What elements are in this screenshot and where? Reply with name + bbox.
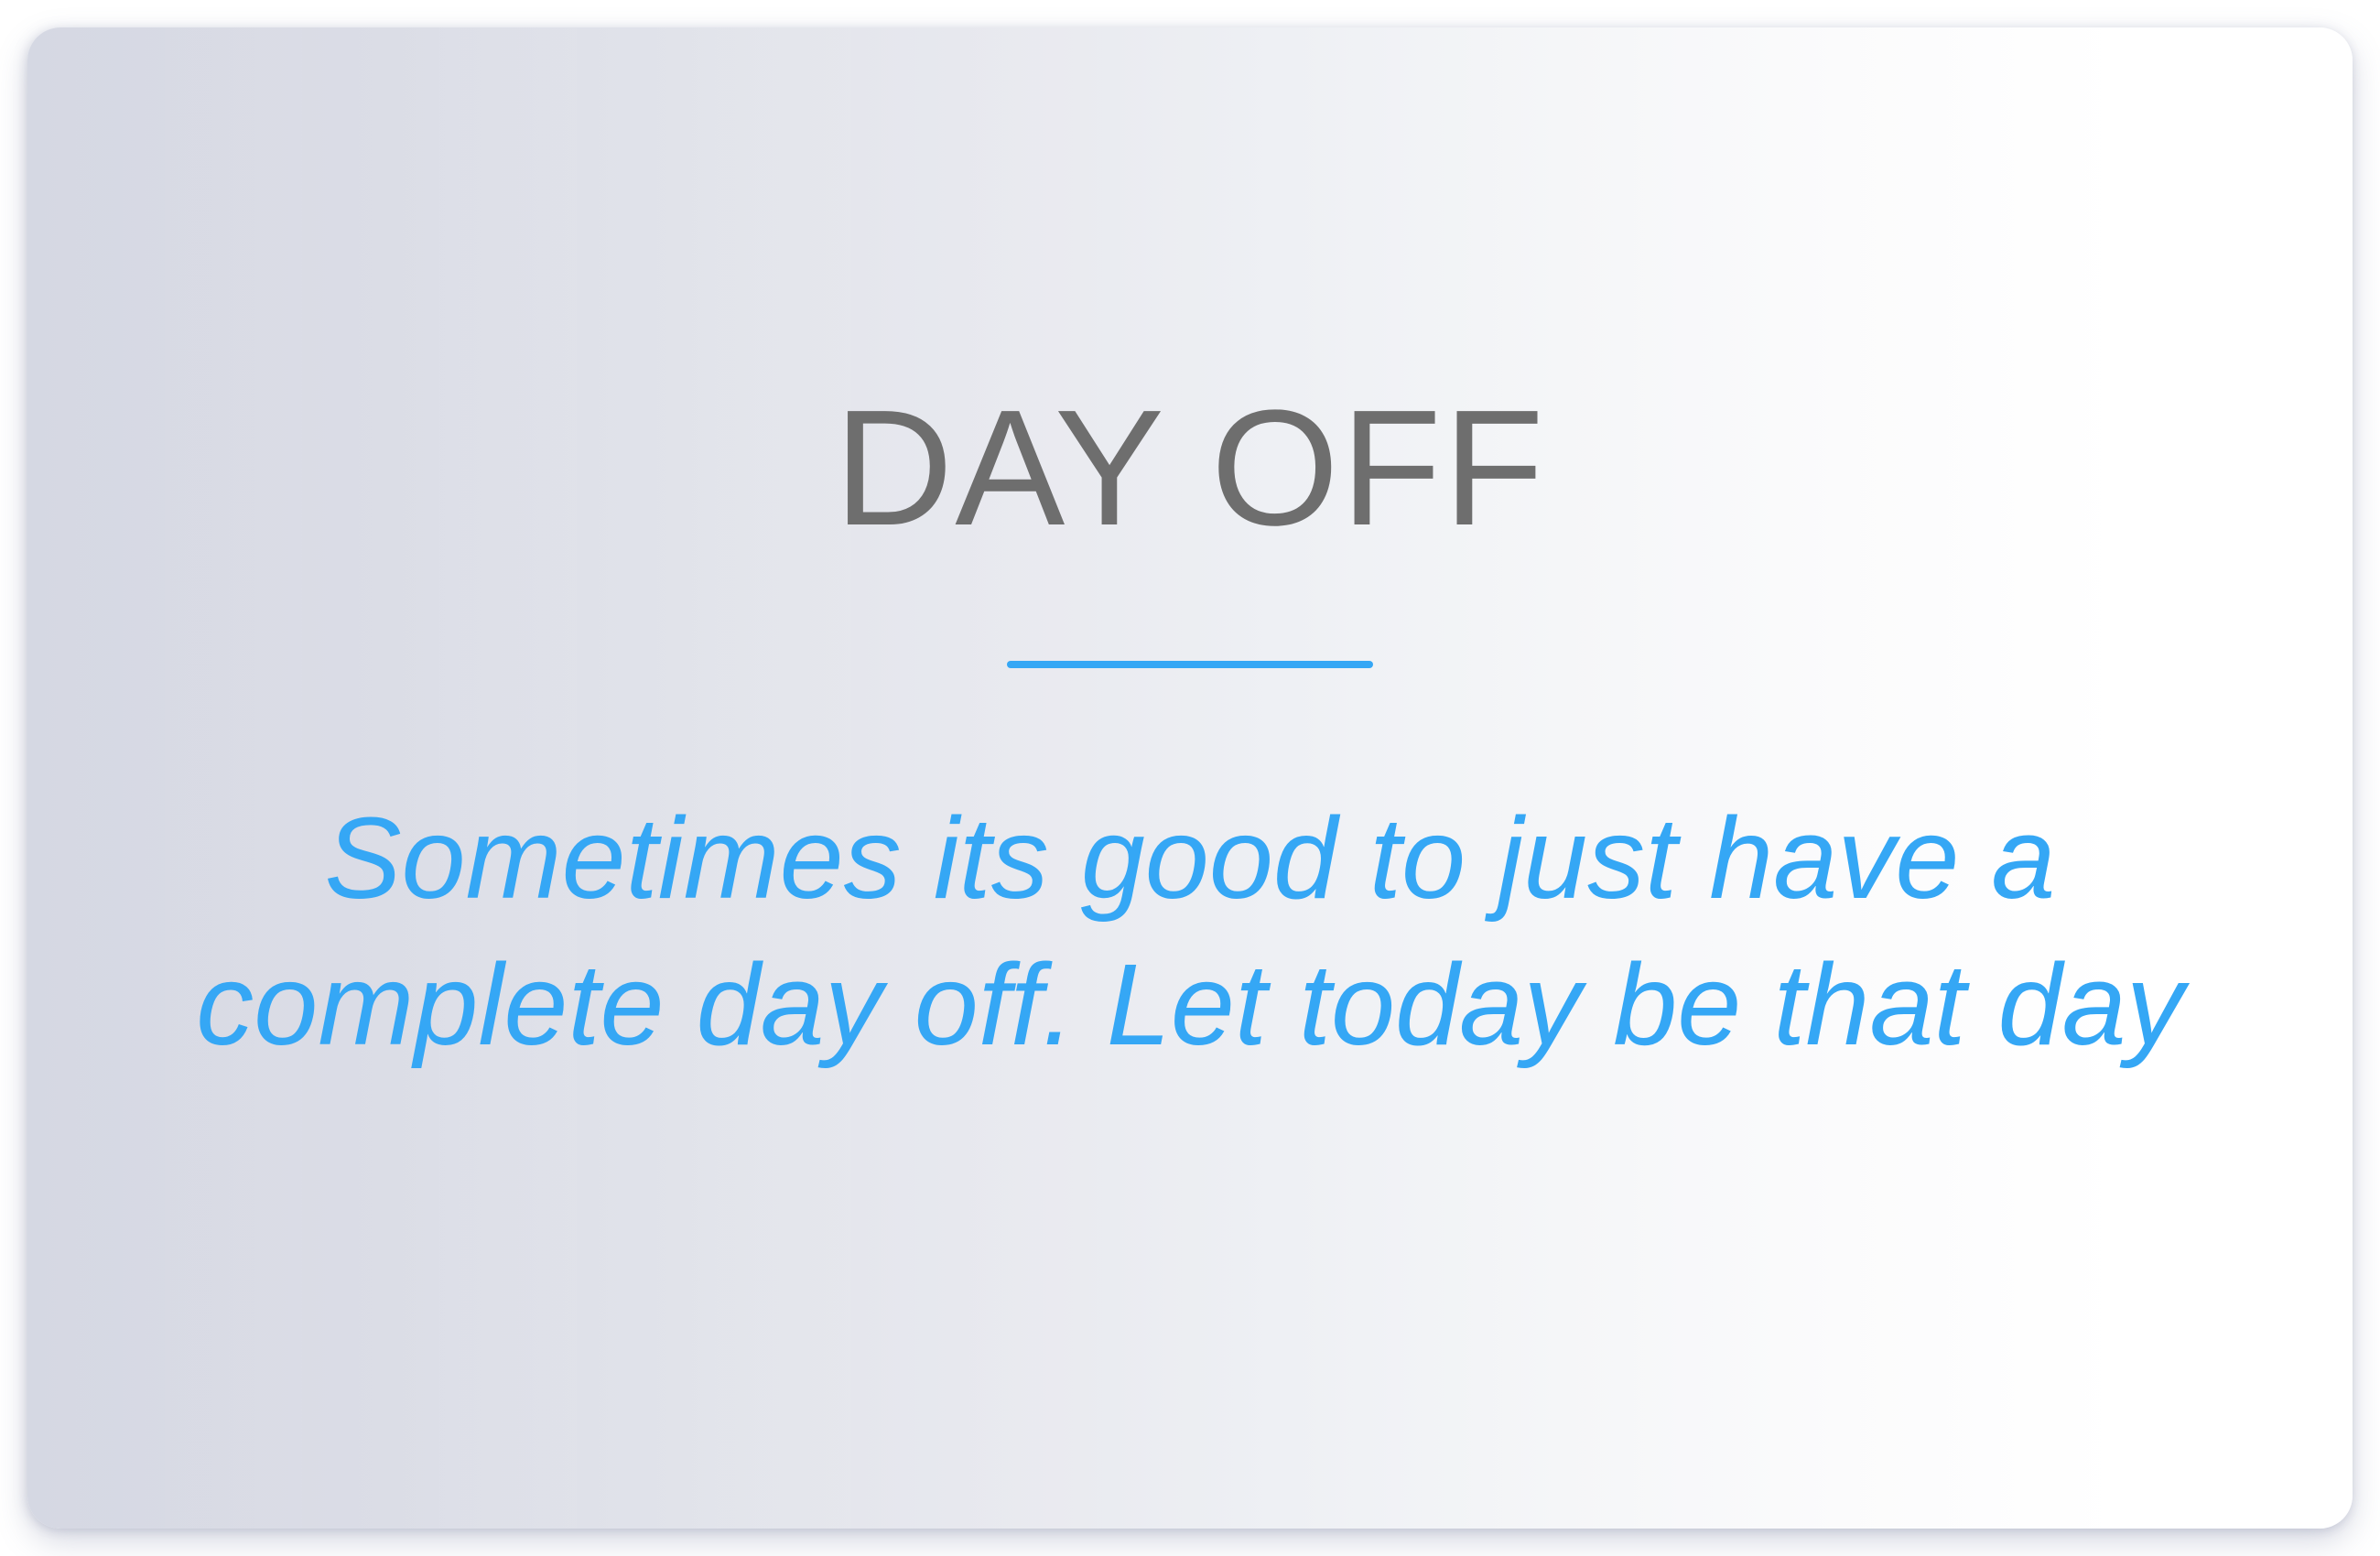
page-title: DAY OFF [834, 386, 1545, 551]
day-off-quote-card: DAY OFF Sometimes its good to just have … [27, 27, 2353, 1529]
screen: DAY OFF Sometimes its good to just have … [0, 0, 2380, 1556]
card-content: DAY OFF Sometimes its good to just have … [27, 27, 2353, 1529]
title-divider [1007, 661, 1373, 668]
divider-container [27, 661, 2353, 668]
quote-body-text: Sometimes its good to just have a comple… [156, 785, 2224, 1078]
